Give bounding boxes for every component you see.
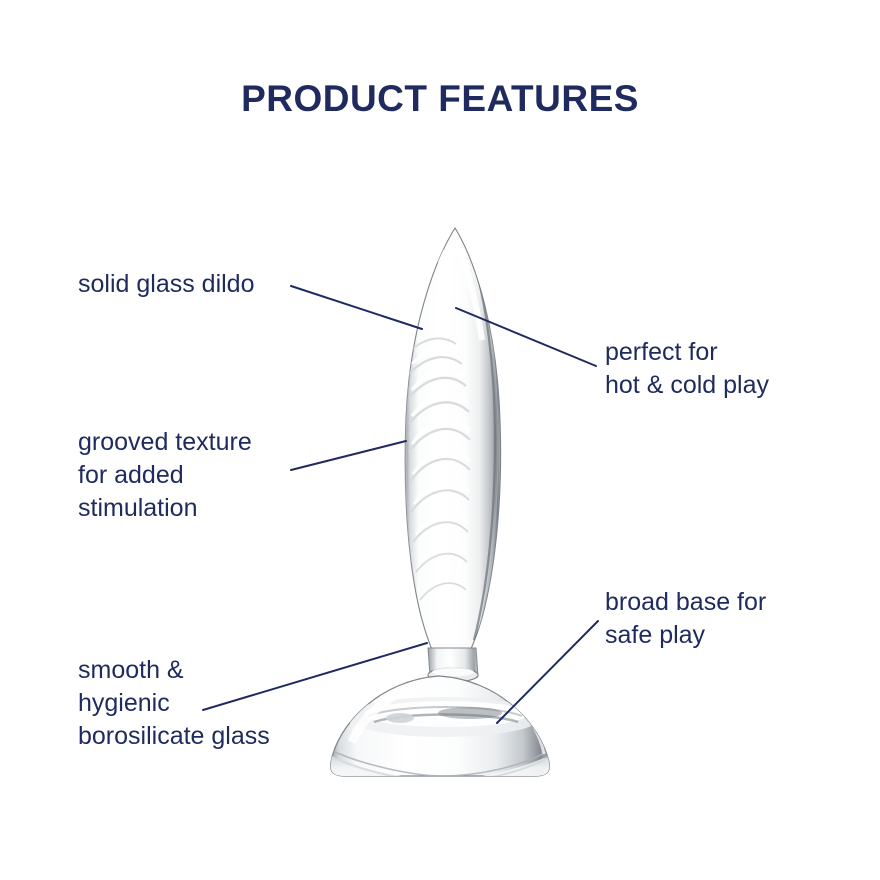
feature-label-solid-glass-line1: solid glass dildo (78, 268, 255, 301)
page-title: PRODUCT FEATURES (0, 78, 880, 120)
product-features-infographic: PRODUCT FEATURES solid glass dildo groov… (0, 0, 880, 880)
feature-label-smooth-hygienic-line3: borosilicate glass (78, 720, 270, 753)
feature-label-perfect-for: perfect for hot & cold play (605, 336, 769, 402)
feature-label-broad-base-line1: broad base for (605, 586, 766, 619)
feature-label-grooved-texture: grooved texture for added stimulation (78, 426, 252, 525)
feature-label-perfect-for-line1: perfect for (605, 336, 769, 369)
product-shaft (405, 228, 500, 668)
feature-label-solid-glass: solid glass dildo (78, 268, 255, 301)
feature-label-perfect-for-line2: hot & cold play (605, 369, 769, 402)
leader-line-grooved-texture (291, 441, 406, 470)
feature-label-broad-base: broad base for safe play (605, 586, 766, 652)
feature-label-smooth-hygienic-line1: smooth & (78, 654, 270, 687)
product-base (320, 676, 560, 790)
feature-label-broad-base-line2: safe play (605, 619, 766, 652)
feature-label-grooved-texture-line3: stimulation (78, 492, 252, 525)
feature-label-smooth-hygienic-line2: hygienic (78, 687, 270, 720)
leader-line-broad-base (497, 621, 598, 723)
feature-label-grooved-texture-line2: for added (78, 459, 252, 492)
feature-label-grooved-texture-line1: grooved texture (78, 426, 252, 459)
leader-line-solid-glass (291, 286, 422, 329)
feature-label-smooth-hygienic: smooth & hygienic borosilicate glass (78, 654, 270, 753)
